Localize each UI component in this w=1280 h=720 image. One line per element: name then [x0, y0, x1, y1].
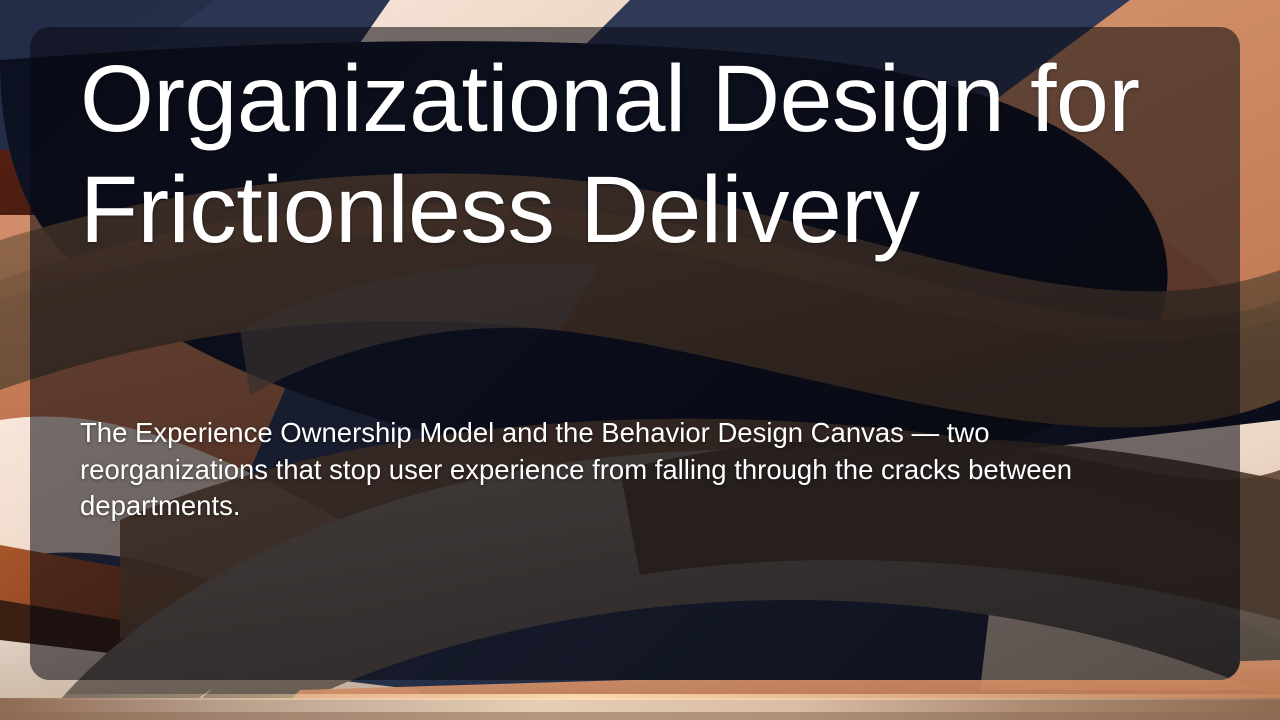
- slide-text-layer: Organizational Design for Frictionless D…: [0, 0, 1280, 720]
- slide-subtitle: The Experience Ownership Model and the B…: [80, 415, 1165, 525]
- slide-title: Organizational Design for Frictionless D…: [80, 44, 1190, 266]
- presentation-slide: Organizational Design for Frictionless D…: [0, 0, 1280, 720]
